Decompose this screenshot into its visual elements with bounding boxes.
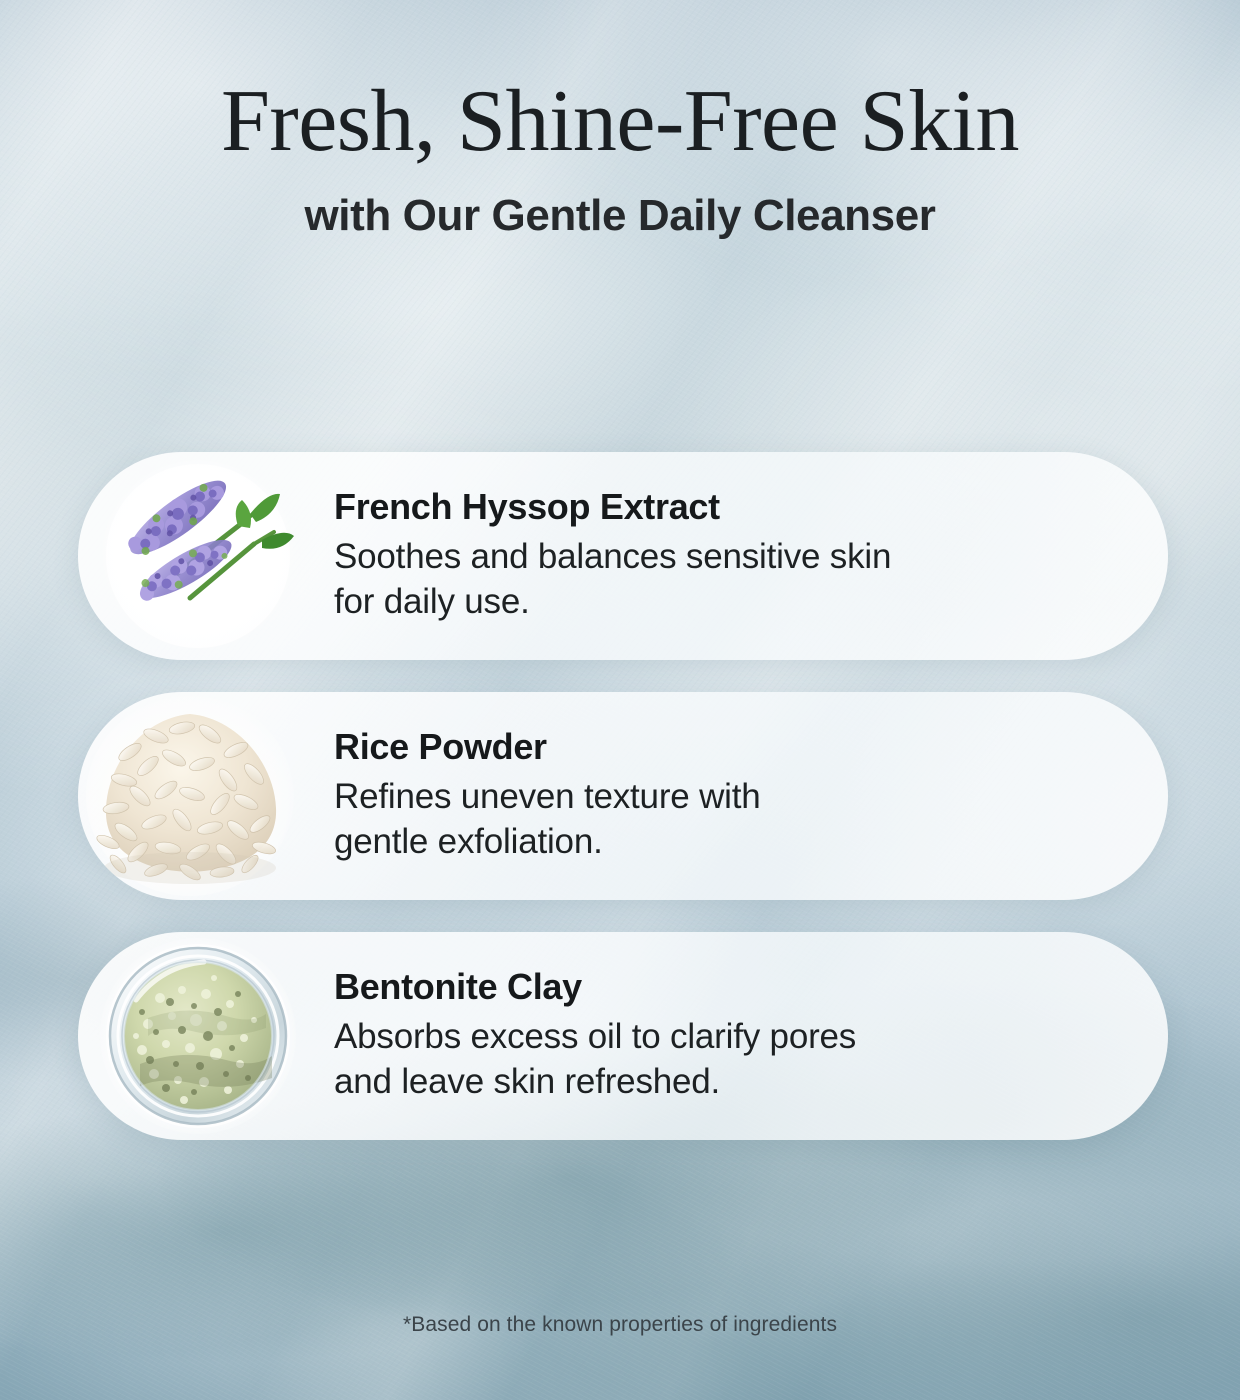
- page-subtitle: with Our Gentle Daily Cleanser: [0, 192, 1240, 240]
- product-infographic: Fresh, Shine-Free Skin with Our Gentle D…: [0, 0, 1240, 1400]
- ingredient-card: French Hyssop Extract Soothes and balanc…: [78, 452, 1168, 660]
- ingredient-text: Rice Powder Refines uneven texture with …: [328, 727, 1168, 864]
- rice-grains-image: [78, 692, 328, 900]
- ingredient-card: Bentonite Clay Absorbs excess oil to cla…: [78, 932, 1168, 1140]
- ingredient-description: Absorbs excess oil to clarify pores and …: [334, 1014, 1128, 1105]
- ingredient-media: [78, 692, 328, 900]
- ingredient-media: [78, 452, 328, 660]
- footnote-disclaimer: *Based on the known properties of ingred…: [0, 1313, 1240, 1337]
- page-title: Fresh, Shine-Free Skin: [0, 78, 1240, 166]
- ingredient-card: Rice Powder Refines uneven texture with …: [78, 692, 1168, 900]
- poster-content: Fresh, Shine-Free Skin with Our Gentle D…: [0, 0, 1240, 1400]
- ingredient-text: Bentonite Clay Absorbs excess oil to cla…: [328, 967, 1168, 1104]
- ingredient-title: French Hyssop Extract: [334, 487, 1128, 527]
- ingredient-description: Soothes and balances sensitive skin for …: [334, 534, 1128, 625]
- clay-bowl-image: [78, 932, 328, 1140]
- ingredient-title: Rice Powder: [334, 727, 1128, 767]
- ingredient-title: Bentonite Clay: [334, 967, 1128, 1007]
- ingredient-text: French Hyssop Extract Soothes and balanc…: [328, 487, 1168, 624]
- ingredient-card-list: French Hyssop Extract Soothes and balanc…: [78, 452, 1168, 1172]
- hyssop-flower-image: [78, 452, 328, 660]
- ingredient-media: [78, 932, 328, 1140]
- header: Fresh, Shine-Free Skin with Our Gentle D…: [0, 78, 1240, 240]
- ingredient-description: Refines uneven texture with gentle exfol…: [334, 774, 1128, 865]
